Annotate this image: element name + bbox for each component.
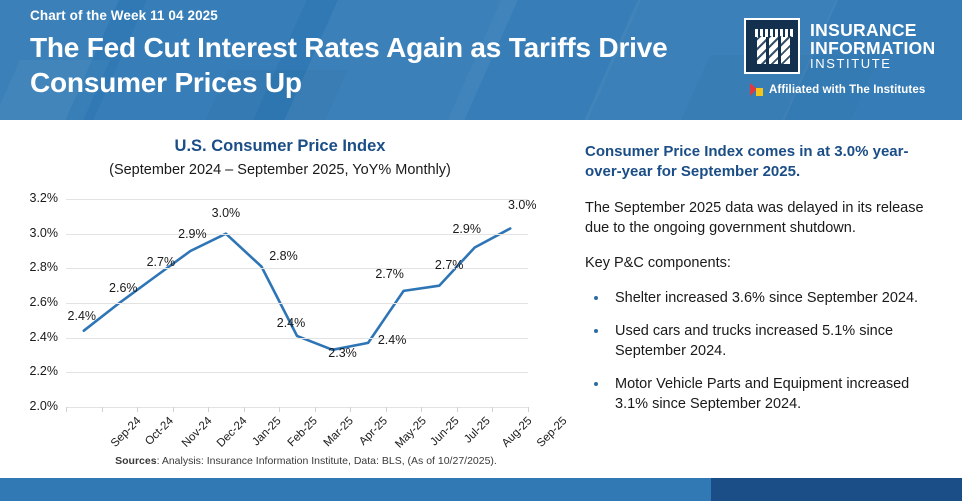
list-item-label: Used cars and trucks increased 5.1% sinc… xyxy=(615,323,893,359)
x-axis-tick xyxy=(492,407,493,412)
x-axis-tick-label: Jan-25 xyxy=(250,415,283,448)
x-axis-tick xyxy=(279,407,280,412)
x-axis-tick xyxy=(457,407,458,412)
x-axis-tick xyxy=(386,407,387,412)
y-axis-tick-label: 2.2% xyxy=(2,364,58,378)
logo-line-insurance: INSURANCE xyxy=(810,21,935,39)
data-point-label: 2.4% xyxy=(378,333,407,347)
chart-title: U.S. Consumer Price Index xyxy=(0,137,560,156)
x-axis-tick xyxy=(66,407,67,412)
iii-logo-icon xyxy=(744,18,800,74)
x-axis-tick-label: Sep-25 xyxy=(535,415,570,450)
x-axis-tick xyxy=(173,407,174,412)
data-point-label: 2.6% xyxy=(109,281,138,295)
data-point-label: 2.3% xyxy=(328,346,357,360)
data-point-label: 3.0% xyxy=(212,206,241,220)
y-axis-tick-label: 2.6% xyxy=(2,295,58,309)
slide-header: Chart of the Week 11 04 2025 The Fed Cut… xyxy=(0,0,962,120)
x-axis-tick-label: Jul-25 xyxy=(462,415,493,446)
list-item: Used cars and trucks increased 5.1% sinc… xyxy=(585,321,935,361)
data-point-label: 2.4% xyxy=(68,309,97,323)
data-point-label: 2.9% xyxy=(178,227,207,241)
footer-bar-right xyxy=(711,478,962,501)
commentary-subhead: Key P&C components: xyxy=(585,253,935,273)
list-item-label: Motor Vehicle Parts and Equipment increa… xyxy=(615,376,909,412)
sources-text: : Analysis: Insurance Information Instit… xyxy=(157,455,497,467)
data-point-label: 3.0% xyxy=(508,198,537,212)
data-point-label: 2.7% xyxy=(147,255,176,269)
x-axis-tick-label: Dec-24 xyxy=(215,415,250,450)
sources-label: Sources xyxy=(115,455,156,467)
slide-footer xyxy=(0,478,962,501)
y-axis-tick-label: 3.0% xyxy=(2,226,58,240)
x-axis-tick-label: Aug-25 xyxy=(500,415,535,450)
chart-sources: Sources: Analysis: Insurance Information… xyxy=(66,455,546,467)
institutes-flag-icon xyxy=(750,83,763,96)
chart-subtitle: (September 2024 – September 2025, YoY% M… xyxy=(0,162,560,178)
chart-gridline xyxy=(66,407,528,408)
logo-line-institute: INSTITUTE xyxy=(810,57,935,71)
commentary-panel: Consumer Price Index comes in at 3.0% ye… xyxy=(585,142,935,427)
x-axis-tick xyxy=(137,407,138,412)
x-axis-tick-label: Feb-25 xyxy=(286,415,320,449)
chart-gridline xyxy=(66,199,528,200)
x-axis-tick-label: Jun-25 xyxy=(428,415,461,448)
commentary-paragraph: The September 2025 data was delayed in i… xyxy=(585,198,935,238)
chart-series-line xyxy=(84,229,510,350)
data-point-label: 2.9% xyxy=(452,222,481,236)
chart-of-the-week-kicker: Chart of the Week 11 04 2025 xyxy=(30,8,218,23)
affiliate-row: Affiliated with The Institutes xyxy=(744,83,940,96)
headline-title: The Fed Cut Interest Rates Again as Tari… xyxy=(30,30,710,101)
logo-line-information: INFORMATION xyxy=(810,39,935,57)
x-axis-tick-label: Apr-25 xyxy=(357,415,390,448)
data-point-label: 2.7% xyxy=(375,267,404,281)
slide-body: U.S. Consumer Price Index (September 202… xyxy=(0,120,962,478)
list-item: Motor Vehicle Parts and Equipment increa… xyxy=(585,374,935,414)
list-item: Shelter increased 3.6% since September 2… xyxy=(585,288,935,308)
commentary-heading: Consumer Price Index comes in at 3.0% ye… xyxy=(585,142,935,183)
x-axis-tick-label: May-25 xyxy=(393,415,429,451)
x-axis-tick-label: Sep-24 xyxy=(109,415,144,450)
cpi-line-chart: U.S. Consumer Price Index (September 202… xyxy=(0,120,560,478)
list-item-label: Shelter increased 3.6% since September 2… xyxy=(615,290,918,306)
bullet-dot-icon xyxy=(594,382,598,386)
x-axis-tick-label: Oct-24 xyxy=(143,415,176,448)
y-axis-tick-label: 2.8% xyxy=(2,260,58,274)
key-components-list: Shelter increased 3.6% since September 2… xyxy=(585,288,935,414)
data-point-label: 2.8% xyxy=(269,249,298,263)
chart-gridline xyxy=(66,303,528,304)
chart-plot-area: 3.2%3.0%2.8%2.6%2.4%2.2%2.0%Sep-24Oct-24… xyxy=(66,199,528,407)
bullet-dot-icon xyxy=(594,296,598,300)
affiliate-label: Affiliated with The Institutes xyxy=(769,84,925,96)
x-axis-tick xyxy=(102,407,103,412)
x-axis-tick xyxy=(528,407,529,412)
x-axis-tick xyxy=(315,407,316,412)
chart-gridline xyxy=(66,372,528,373)
data-point-label: 2.4% xyxy=(277,316,306,330)
bullet-dot-icon xyxy=(594,329,598,333)
x-axis-tick xyxy=(244,407,245,412)
x-axis-tick xyxy=(208,407,209,412)
x-axis-tick xyxy=(350,407,351,412)
slide-root: Chart of the Week 11 04 2025 The Fed Cut… xyxy=(0,0,962,501)
x-axis-tick xyxy=(421,407,422,412)
x-axis-tick-label: Mar-25 xyxy=(322,415,356,449)
y-axis-tick-label: 2.0% xyxy=(2,399,58,413)
footer-bar-left xyxy=(0,478,711,501)
iii-logo-block: INSURANCE INFORMATION INSTITUTE Affiliat… xyxy=(744,18,940,96)
data-point-label: 2.7% xyxy=(435,258,464,272)
y-axis-tick-label: 2.4% xyxy=(2,330,58,344)
y-axis-tick-label: 3.2% xyxy=(2,191,58,205)
x-axis-tick-label: Nov-24 xyxy=(180,415,215,450)
chart-gridline xyxy=(66,338,528,339)
